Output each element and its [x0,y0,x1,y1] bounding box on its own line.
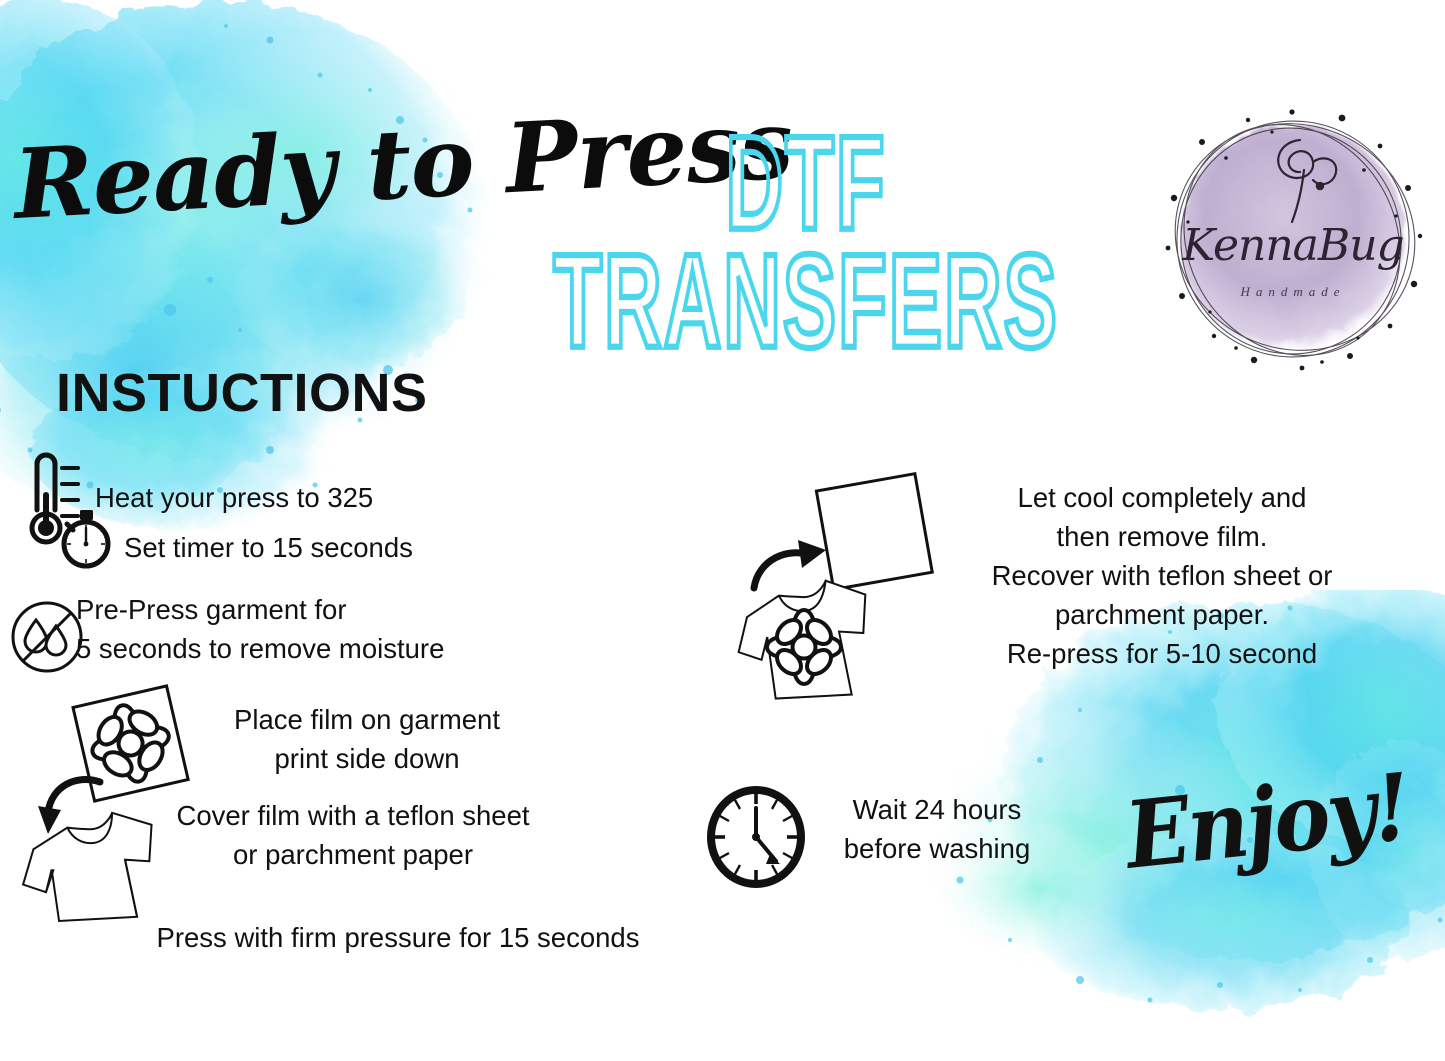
logo-brand-name: KennaBug [1152,220,1434,271]
logo-tagline: Handmade [1152,284,1434,300]
instructions-heading: INSTUCTIONS [56,362,428,424]
flyer-canvas: Ready to Press DTF TRANSFERS [0,0,1445,1061]
step-text-cover-film: Cover film with a teflon sheet or parchm… [118,796,588,874]
peel-film-icon [736,472,932,704]
headline-dtf-transfers: DTF TRANSFERS [486,128,1126,318]
closing-script-enjoy: Enjoy! [1120,753,1413,890]
brand-logo: KennaBug Handmade [1152,98,1434,380]
step-text-wait-24-hours: Wait 24 hours before washing [812,790,1062,868]
step-text-press-firm: Press with firm pressure for 15 seconds [78,918,718,957]
no-moisture-icon [8,598,86,676]
clock-icon [704,784,808,890]
headline-line-transfers: TRANSFERS [508,246,1103,358]
step-text-place-film: Place film on garment print side down [182,700,552,778]
step-text-cool-and-peel: Let cool completely and then remove film… [932,478,1392,673]
headline-line-dtf: DTF [508,128,1103,240]
step-text-set-timer: Set timer to 15 seconds [124,528,544,567]
step-text-pre-press: Pre-Press garment for 5 seconds to remov… [76,590,596,668]
step-text-heat-press: Heat your press to 325 [95,478,495,517]
stopwatch-icon [58,508,114,570]
